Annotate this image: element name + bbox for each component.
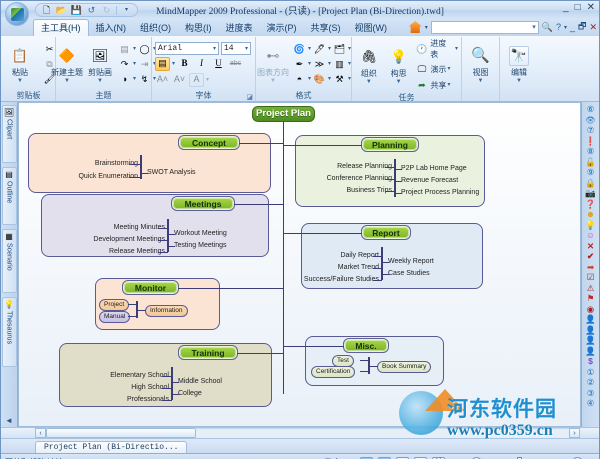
clipart-button[interactable]: 🖼 剪贴画 ▼ — [85, 45, 115, 84]
topic-monitor[interactable]: Monitor — [123, 281, 178, 294]
leaf-line — [395, 181, 402, 182]
new-topic-icon: 🔶 — [57, 46, 77, 66]
leaf-line — [140, 173, 148, 174]
leaf-line — [385, 179, 395, 180]
checkbox-icon[interactable]: ☑ — [587, 272, 595, 283]
scroll-left-icon[interactable]: ‹ — [35, 428, 46, 438]
training-bar — [171, 367, 173, 400]
leaf-line — [382, 274, 389, 275]
fill-icon[interactable]: 🗂 — [332, 42, 347, 56]
warning-icon[interactable]: ⚠ — [587, 283, 595, 294]
question-icon[interactable]: ❓ — [585, 199, 596, 210]
leaf-middle-school[interactable]: Middle School — [178, 378, 222, 386]
paste-button[interactable]: 📋 粘贴 ▼ — [0, 45, 40, 84]
smiley-pink-icon[interactable]: ☺ — [586, 230, 595, 241]
binoculars-icon: 🔭 — [509, 46, 529, 66]
font-dialog-launcher[interactable]: ◪ — [246, 93, 253, 101]
idea-bulb-icon: 💡 — [389, 47, 409, 67]
ribbon-group-font: Arial ▾ 14 ▾ ▤▾ B I U abc A˄ — [152, 37, 256, 101]
leaf-line — [360, 360, 369, 361]
leaf-line — [162, 388, 172, 389]
branch-icon[interactable]: ↯ — [137, 72, 152, 86]
organize-button[interactable]: 🖇 组织 ▼ — [355, 46, 383, 85]
chart-direction-label: 图表方向 — [257, 67, 289, 78]
mindmap-root-node[interactable]: Project Plan — [252, 106, 315, 122]
topic-training[interactable]: Training — [179, 346, 237, 359]
leaf-project-process-planning[interactable]: Project Process Planning — [401, 189, 479, 197]
record-icon[interactable]: ◉ — [587, 304, 594, 315]
presentation-dropdown-icon[interactable]: ▾ — [447, 67, 450, 71]
clipart-dropdown-icon[interactable]: ▼ — [97, 79, 103, 83]
meetings-bar — [167, 219, 169, 252]
connector-training — [237, 353, 283, 354]
leaf-line — [128, 304, 137, 305]
tab-schedule[interactable]: 进度表 — [219, 20, 260, 36]
lightbulb-icon[interactable]: 💡 — [585, 220, 596, 231]
leaf-line — [158, 252, 168, 253]
presentation-icon: 🖵 — [414, 62, 429, 76]
box-icon[interactable]: ▤ — [117, 42, 132, 56]
attach-icon[interactable]: ◑ — [117, 72, 132, 86]
number-3-icon[interactable]: ③ — [587, 388, 595, 399]
scroll-thumb[interactable] — [46, 428, 196, 438]
idea-button[interactable]: 💡 构思 ▼ — [385, 46, 413, 85]
close-document-icon[interactable]: ✕ — [589, 22, 597, 33]
leaf-release-meetings[interactable]: Release Meetings — [77, 248, 165, 256]
leaf-line — [158, 240, 168, 241]
group-label-format: 格式 — [259, 90, 348, 101]
leaf-workout-meeting[interactable]: Workout Meeting — [174, 230, 227, 238]
tab-main-tools[interactable]: 主工具(H) — [33, 19, 89, 36]
number-1-icon[interactable]: ① — [587, 367, 595, 378]
leaf-daily-report[interactable]: Daily Report — [314, 252, 379, 260]
clipboard-icon: 📋 — [10, 46, 30, 66]
font-family-value: Arial — [158, 44, 182, 53]
sidebar-item-thesaurus[interactable]: 💡 Thesaurus — [2, 297, 17, 367]
person-purple-icon[interactable]: 👤 — [585, 314, 596, 325]
clipart-tab-icon: 🖼 — [4, 108, 14, 117]
leaf-line — [129, 177, 140, 178]
camera-icon[interactable]: 📷 — [585, 188, 596, 199]
status-bar: 要获取帮助,请按 F1 数字 ▣ ▤ ▢ ▥ ⛶ 53% − + ⋰ — [1, 453, 599, 459]
topic-misc[interactable]: Misc. — [344, 339, 388, 352]
leaf-weekly-report[interactable]: Weekly Report — [388, 258, 434, 266]
leaf-line — [129, 164, 140, 165]
person-green-icon[interactable]: 👤 — [585, 325, 596, 336]
flag-icon[interactable]: ⚑ — [587, 293, 595, 304]
leaf-line — [369, 366, 378, 367]
close-button[interactable]: ✕ — [587, 2, 595, 13]
topic-meetings[interactable]: Meetings — [172, 197, 234, 210]
group-label-view — [465, 90, 496, 101]
application-button[interactable] — [5, 2, 29, 26]
leaf-line — [385, 167, 395, 168]
group-label-topic: 主题 — [59, 90, 148, 101]
leaf-elementary-school[interactable]: Elementary School — [74, 372, 169, 380]
smiley-neutral-icon[interactable]: ☻ — [586, 209, 595, 220]
pill-information[interactable]: Information — [145, 305, 188, 317]
ribbon-group-format: ⊷ 图表方向 ▼ 🌀▾ 🖊▾ 🗂▾ ✒▾ ≫▾ ▥▾ — [256, 37, 352, 101]
new-topic-button[interactable]: 🔶 新建主题 ▼ — [51, 45, 83, 84]
check-icon[interactable]: ✔ — [587, 251, 594, 262]
leaf-line — [168, 246, 175, 247]
presentation-label: 演示 — [430, 64, 446, 75]
scroll-right-icon[interactable]: › — [569, 428, 580, 438]
group-label-font: 字体 — [155, 90, 252, 101]
scroll-track[interactable] — [196, 428, 569, 438]
share-label: 共享 — [430, 80, 446, 91]
font-family-combo[interactable]: Arial ▾ — [155, 42, 219, 55]
topic-report[interactable]: Report — [362, 226, 410, 239]
help-icon[interactable]: ? — [556, 22, 561, 32]
lock-closed-icon[interactable]: 🔒 — [585, 178, 596, 189]
ribbon-group-clipboard: 📋 粘贴 ▼ ✂ ⧉ 🖌 剪贴板 — [2, 37, 56, 101]
thesaurus-tab-icon: 💡 — [4, 300, 14, 309]
chart-direction-icon: ⊷ — [263, 46, 283, 66]
new-topic-label: 新建主题 — [51, 67, 83, 78]
italic-icon[interactable]: I — [194, 57, 209, 71]
arrow-icon[interactable]: ↷ — [117, 57, 132, 71]
restore-document-icon[interactable]: 🗗 — [578, 19, 586, 35]
topic-concept[interactable]: Concept — [179, 136, 239, 149]
layout-icon[interactable]: ▥ — [332, 57, 347, 71]
leaf-p2p-lab-home-page[interactable]: P2P Lab Home Page — [401, 165, 467, 173]
leaf-line — [373, 268, 382, 269]
spine-line — [283, 122, 284, 394]
sidebar-item-thesaurus-label: Thesaurus — [6, 311, 13, 344]
ribbon-group-task: 🖇 组织 ▼ 💡 构思 ▼ 🕐 进度表 ▾ 🖵 — [352, 37, 462, 101]
window-title: MindMapper 2009 Professional - (只读) - [P… — [1, 3, 599, 17]
palette-icon[interactable]: 🎨 — [312, 72, 327, 86]
number-7-icon[interactable]: ⑦ — [587, 125, 595, 136]
share-dropdown-icon[interactable]: ▾ — [447, 83, 450, 87]
view-button[interactable]: 🔍 视图 ▼ — [461, 45, 501, 84]
font-size-dropdown-icon[interactable]: ▾ — [245, 45, 248, 52]
magnifier-icon: 🔍 — [471, 46, 491, 66]
connector-report — [283, 233, 362, 234]
connector-misc — [283, 346, 344, 347]
bold-icon[interactable]: B — [177, 57, 192, 71]
schedule-label: 进度表 — [430, 38, 454, 60]
align-icon[interactable]: ▤ — [155, 57, 170, 71]
scenario-tab-icon: ▦ — [5, 232, 13, 241]
leaf-line — [373, 280, 382, 281]
sidebar-item-scenario[interactable]: ▦ Scenario — [2, 229, 17, 293]
connector-meetings — [234, 204, 283, 205]
tab-presentation[interactable]: 演示(P) — [260, 20, 304, 36]
bucket-icon[interactable]: ◓ — [292, 72, 307, 86]
font-color-icon[interactable]: A — [189, 73, 204, 87]
increase-font-icon[interactable]: A˄ — [155, 73, 170, 87]
circle-icon[interactable]: ◯ — [137, 42, 152, 56]
brush-icon[interactable]: 🖊 — [312, 42, 327, 56]
leaf-release-planning[interactable]: Release Planning — [309, 163, 392, 171]
tab-share[interactable]: 共享(S) — [304, 20, 348, 36]
document-tab-strip: Project Plan (Bi-Directio... — [1, 438, 599, 453]
edit-label: 编辑 — [511, 67, 527, 78]
leaf-line — [385, 191, 395, 192]
title-bar: 🗋 📂 💾 ↺ ↻ ▾ MindMapper 2009 Professional… — [1, 1, 599, 19]
horizontal-scrollbar[interactable]: ‹ › — [1, 427, 599, 438]
leaf-brainstorming[interactable]: Brainstorming — [52, 160, 138, 168]
idea-dropdown-icon[interactable]: ▼ — [396, 80, 402, 84]
leaf-college[interactable]: College — [178, 390, 202, 398]
window-controls: _ □ ✕ — [563, 2, 595, 13]
right-symbol-panel: ⑥ 👁 ⑦ ❗ ⑧ 🔓 ⑨ 🔒 📷 ❓ ☻ 💡 ☺ ✕ ✔ ➡ ☑ ⚠ ⚑ ◉ … — [581, 102, 599, 427]
sidebar-item-scenario-label: Scenario — [6, 243, 13, 271]
decrease-font-icon[interactable]: A˅ — [172, 73, 187, 87]
pen-icon[interactable]: ✒ — [292, 57, 307, 71]
leaf-revenue-forecast[interactable]: Revenue Forecast — [401, 177, 458, 185]
main-body: 🖼 Clipart ▤ Outline ▦ Scenario 💡 Thesaur… — [1, 102, 599, 427]
edit-button[interactable]: 🔭 编辑 ▼ — [499, 45, 539, 84]
leaf-professionals[interactable]: Professionals — [87, 396, 169, 404]
red-x-icon[interactable]: ✕ — [587, 241, 594, 252]
leaf-meeting-minutes[interactable]: Meeting Minutes — [77, 224, 165, 232]
help-dropdown-icon[interactable]: ▾ — [564, 24, 567, 31]
format-small-buttons: 🌀▾ 🖊▾ 🗂▾ ✒▾ ≫▾ ▥▾ ◓▾ 🎨▾ ⚒▾ — [292, 42, 351, 86]
collapse-left-panel-icon[interactable]: ◄ — [5, 416, 13, 425]
clipart-icon: 🖼 — [90, 46, 110, 66]
group-label-edit — [503, 90, 535, 101]
organize-label: 组织 — [361, 68, 377, 79]
underline-icon[interactable]: U — [211, 57, 226, 71]
dollar-icon[interactable]: $ — [588, 356, 593, 367]
task-small-buttons: 🕐 进度表 ▾ 🖵 演示 ▾ ➦ 共享 ▾ — [414, 38, 458, 92]
leaf-business-trips[interactable]: Business Trips — [314, 187, 392, 195]
person-brown-icon[interactable]: 👤 — [585, 335, 596, 346]
leaf-line — [158, 228, 168, 229]
tab-organize[interactable]: 组织(O) — [133, 20, 178, 36]
clock-icon: 🕐 — [414, 42, 429, 56]
number-8-icon[interactable]: ⑧ — [587, 146, 595, 157]
maximize-button[interactable]: □ — [575, 2, 581, 13]
leaf-success-failure-studies[interactable]: Success/Failure Studies — [293, 276, 379, 284]
connector-monitor — [178, 288, 283, 289]
organize-dropdown-icon[interactable]: ▼ — [366, 80, 372, 84]
minimize-button[interactable]: _ — [563, 2, 569, 13]
pill-manual[interactable]: Manual — [99, 311, 130, 323]
number-6-icon[interactable]: ⑥ — [587, 104, 595, 115]
leaf-line — [395, 169, 402, 170]
shape-icon[interactable]: 🌀 — [292, 42, 307, 56]
home-dropdown-icon[interactable]: ▾ — [425, 24, 428, 31]
leaf-high-school[interactable]: High School — [87, 384, 169, 392]
presentation-button[interactable]: 🖵 演示 ▾ — [414, 62, 458, 76]
sidebar-item-clipart-label: Clipart — [6, 119, 13, 139]
leaf-line — [172, 394, 179, 395]
chart-direction-button[interactable]: ⊷ 图表方向 ▼ — [256, 45, 290, 84]
number-4-icon[interactable]: ④ — [587, 398, 595, 409]
leaf-conference-planning[interactable]: Conference Planning — [299, 175, 392, 183]
left-panel-tabs: 🖼 Clipart ▤ Outline ▦ Scenario 💡 Thesaur… — [1, 102, 18, 427]
ribbon-group-view: 🔍 视图 ▼ — [462, 37, 500, 101]
connector-planning — [283, 145, 362, 146]
sidebar-item-outline-label: Outline — [6, 181, 13, 203]
topic-planning[interactable]: Planning — [362, 138, 418, 151]
leaf-line — [360, 371, 369, 372]
ribbon-tab-bar: 主工具(H) 插入(N) 组织(O) 构思(I) 进度表 演示(P) 共享(S)… — [1, 19, 599, 36]
topic-small-buttons: ▤▾ ◯▾ ↷▾ ⇥▾ ◑▾ ↯▾ — [117, 42, 156, 86]
edit-dropdown-icon[interactable]: ▼ — [516, 79, 522, 83]
group-label-clipboard: 剪贴板 — [5, 90, 52, 101]
settings-icon[interactable]: ⚒ — [332, 72, 347, 86]
schedule-dropdown-icon[interactable]: ▾ — [455, 47, 458, 51]
view-label: 视图 — [473, 67, 489, 78]
font-family-dropdown-icon[interactable]: ▾ — [213, 45, 216, 52]
connector-concept — [239, 143, 283, 144]
schedule-button[interactable]: 🕐 进度表 ▾ — [414, 38, 458, 60]
idea-label: 构思 — [391, 68, 407, 79]
minimize-ribbon-icon[interactable]: _ — [570, 22, 575, 32]
font-size-value: 14 — [224, 44, 234, 53]
document-tab[interactable]: Project Plan (Bi-Directio... — [35, 441, 187, 453]
leaf-line — [168, 234, 175, 235]
search-icon[interactable]: 🔍 — [542, 22, 553, 33]
leaf-line — [395, 193, 402, 194]
tab-ideas[interactable]: 构思(I) — [178, 20, 219, 36]
leaf-line — [162, 376, 172, 377]
ribbon-group-topic: 🔶 新建主题 ▼ 🖼 剪贴画 ▼ ▤▾ ◯▾ ↷▾ ⇥▾ — [56, 37, 152, 101]
number-9-icon[interactable]: ⑨ — [587, 167, 595, 178]
font-size-combo[interactable]: 14 ▾ — [221, 42, 251, 55]
link-icon[interactable]: ⇥ — [137, 57, 152, 71]
lock-open-icon[interactable]: 🔓 — [585, 157, 596, 168]
leaf-development-meetings[interactable]: Development Meetings — [54, 236, 165, 244]
leaf-testing-meetings[interactable]: Testing Meetings — [174, 242, 227, 250]
paste-label: 粘贴 — [12, 67, 28, 78]
chart-direction-dropdown-icon[interactable]: ▼ — [270, 79, 276, 83]
tab-bar-right-controls: ▾ ▾ 🔍 ? ▾ _ 🗗 ✕ — [409, 19, 597, 35]
leaf-line — [373, 256, 382, 257]
leaf-quick-enumeration[interactable]: Quick Enumeration — [36, 173, 138, 181]
leaf-swot-analysis[interactable]: SWOT Analysis — [147, 169, 196, 177]
share-icon: ➦ — [414, 78, 429, 92]
mindmap-canvas[interactable]: Project Plan Concept Brainstorming Quick… — [18, 102, 581, 427]
sidebar-item-outline[interactable]: ▤ Outline — [2, 167, 17, 225]
view-dropdown-icon[interactable]: ▼ — [478, 79, 484, 83]
home-icon[interactable] — [409, 21, 422, 33]
canvas-area: Project Plan Concept Brainstorming Quick… — [18, 102, 581, 427]
paste-dropdown-icon[interactable]: ▼ — [17, 79, 23, 83]
pill-project[interactable]: Project — [99, 299, 129, 311]
tab-insert[interactable]: 插入(N) — [89, 20, 134, 36]
red-arrow-icon[interactable]: ➡ — [587, 262, 594, 273]
number-2-icon[interactable]: ② — [587, 377, 595, 388]
sidebar-item-clipart[interactable]: 🖼 Clipart — [2, 105, 17, 163]
strikethrough-icon[interactable]: abc — [228, 57, 243, 71]
concept-bar — [140, 155, 142, 179]
report-bar — [381, 247, 383, 280]
leaf-market-trend[interactable]: Market Trend — [309, 264, 379, 272]
new-topic-dropdown-icon[interactable]: ▼ — [64, 79, 70, 83]
clipart-label: 剪贴画 — [88, 67, 112, 78]
eraser-icon[interactable]: ≫ — [312, 57, 327, 71]
outline-tab-icon: ▤ — [5, 170, 13, 179]
exclamation-icon[interactable]: ❗ — [585, 136, 596, 147]
ribbon-group-edit: 🔭 编辑 ▼ — [500, 37, 538, 101]
leaf-case-studies[interactable]: Case Studies — [388, 270, 430, 278]
application-window: 🗋 📂 💾 ↺ ↻ ▾ MindMapper 2009 Professional… — [0, 0, 600, 459]
share-button[interactable]: ➦ 共享 ▾ — [414, 78, 458, 92]
pill-certification[interactable]: Certification — [311, 366, 355, 378]
leaf-line — [128, 316, 137, 317]
leaf-line — [382, 262, 389, 263]
person-red-icon[interactable]: 👤 — [585, 346, 596, 357]
leaf-line — [137, 310, 146, 311]
app-logo-icon — [11, 8, 24, 21]
eye-icon[interactable]: 👁 — [585, 115, 596, 126]
pill-book-summary[interactable]: Book Summary — [377, 361, 431, 373]
leaf-line — [172, 382, 179, 383]
leaf-line — [162, 400, 172, 401]
ribbon: 📋 粘贴 ▼ ✂ ⧉ 🖌 剪贴板 🔶 新建主题 ▼ — [1, 36, 599, 102]
help-search-input[interactable]: ▾ — [431, 21, 539, 34]
organize-icon: 🖇 — [359, 47, 379, 67]
tab-view[interactable]: 视图(W) — [348, 20, 395, 36]
